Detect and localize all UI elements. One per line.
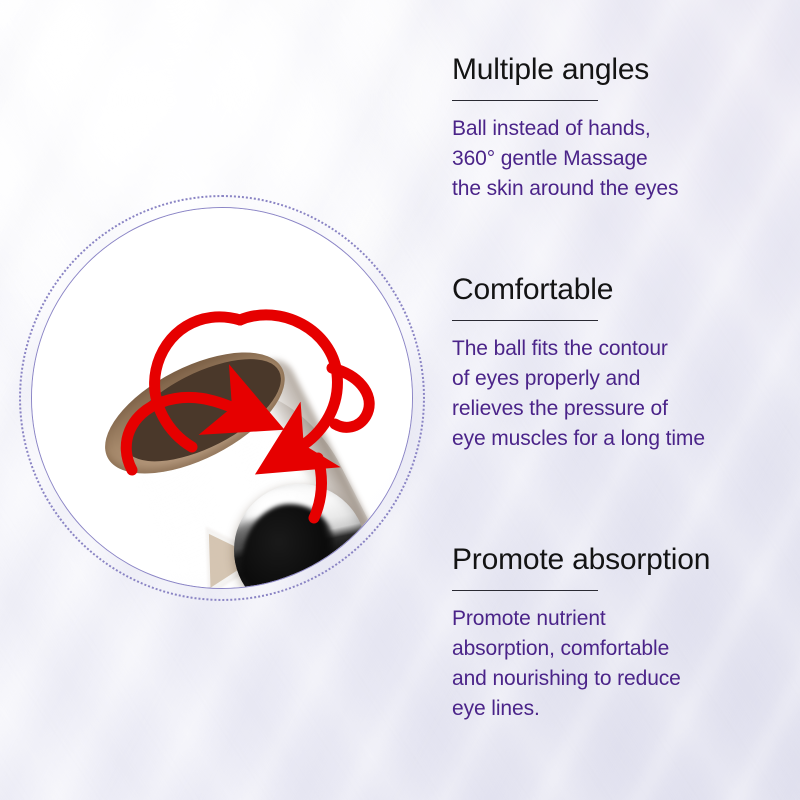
feature-title: Multiple angles bbox=[452, 52, 800, 87]
feature-divider bbox=[452, 320, 598, 321]
feature-list: Multiple angles Ball instead of hands, 3… bbox=[452, 0, 800, 800]
feature-description-line: Promote nutrient bbox=[452, 604, 800, 634]
feature-description: The ball fits the contour of eyes proper… bbox=[452, 334, 800, 453]
feature-description-line: of eyes properly and bbox=[452, 364, 800, 394]
feature-item-comfortable: Comfortable The ball fits the contour of… bbox=[452, 272, 800, 454]
feature-item-promote-absorption: Promote absorption Promote nutrient abso… bbox=[452, 542, 800, 724]
feature-title: Comfortable bbox=[452, 272, 800, 307]
feature-description-line: relieves the pressure of bbox=[452, 394, 800, 424]
feature-description-line: The ball fits the contour bbox=[452, 334, 800, 364]
product-photo bbox=[32, 208, 412, 588]
product-image-circle bbox=[19, 195, 425, 601]
feature-description-line: absorption, comfortable bbox=[452, 634, 800, 664]
feature-description-line: eye muscles for a long time bbox=[452, 424, 800, 454]
feature-title: Promote absorption bbox=[452, 542, 800, 577]
feature-description-line: 360° gentle Massage bbox=[452, 144, 800, 174]
feature-item-multiple-angles: Multiple angles Ball instead of hands, 3… bbox=[452, 52, 800, 204]
feature-description-line: Ball instead of hands, bbox=[452, 114, 800, 144]
feature-description: Promote nutrient absorption, comfortable… bbox=[452, 604, 800, 723]
feature-divider bbox=[452, 100, 598, 101]
feature-description-line: and nourishing to reduce bbox=[452, 664, 800, 694]
product-feature-panel: Multiple angles Ball instead of hands, 3… bbox=[0, 0, 800, 800]
feature-description-line: eye lines. bbox=[452, 694, 800, 724]
solid-ring-border bbox=[31, 207, 413, 589]
feature-description: Ball instead of hands, 360° gentle Massa… bbox=[452, 114, 800, 203]
feature-divider bbox=[452, 590, 598, 591]
feature-description-line: the skin around the eyes bbox=[452, 174, 800, 204]
